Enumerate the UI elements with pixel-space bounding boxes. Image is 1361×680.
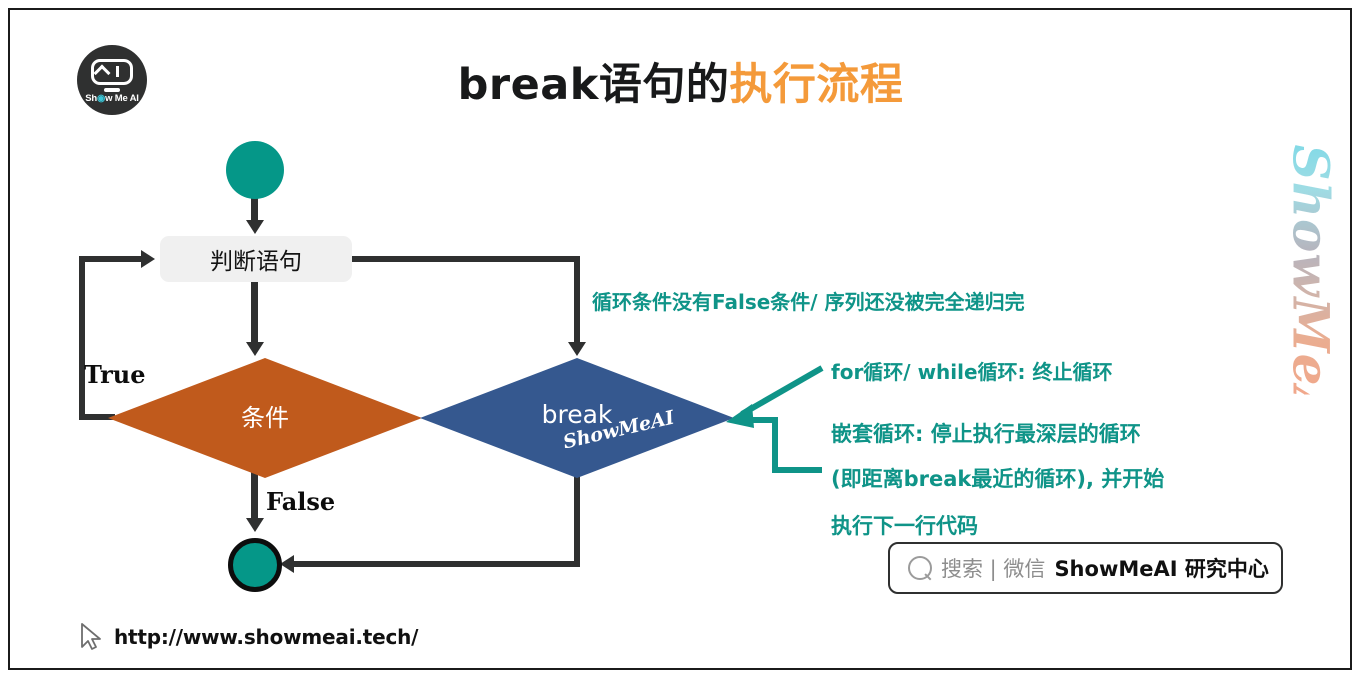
search-pill-placeholder: 搜索 | 微信 [941,553,1045,583]
arrowhead-statement-to-break [568,342,586,356]
page-title-orange: 执行流程 [729,60,903,110]
edge-true-vertical [79,256,85,420]
condition-diamond-label: 条件 [108,398,422,433]
diagram-canvas: Sh◉w Me AI break语句的执行流程 判断语句 条件 [0,0,1361,680]
annotation-nested-line-2: (即距离break最近的循环), 并开始 [831,463,1164,493]
edge-break-to-end-vertical [574,470,580,566]
arrowhead-true-into-statement [141,250,155,268]
edge-label-true: True [84,360,145,389]
break-diamond-label: break [420,400,734,429]
annotation-nested-line-1: 嵌套循环: 停止执行最深层的循环 [831,418,1141,448]
statement-box-label: 判断语句 [210,242,302,276]
cursor-icon [78,622,104,652]
flowchart-end-node [228,538,282,592]
page-title-black: break语句的 [458,60,730,110]
footer-url-text: http://www.showmeai.tech/ [114,625,418,649]
flowchart-condition-diamond: 条件 [108,358,422,478]
annotation-loop-condition: 循环条件没有False条件/ 序列还没被完全递归完 [592,286,1025,315]
edge-statement-to-break-vertical [574,256,580,344]
page-title: break语句的执行流程 [0,50,1361,112]
search-icon [908,556,932,580]
footer-url-block[interactable]: http://www.showmeai.tech/ [78,622,418,652]
annotation-nested-line-3: 执行下一行代码 [831,510,978,540]
edge-true-horizontal-top [79,256,143,262]
search-pill-brand: ShowMeAI 研究中心 [1054,553,1268,583]
arrowhead-false-to-end [246,518,264,532]
arrowhead-statement-to-condition [246,342,264,356]
edge-start-to-statement [251,196,258,222]
edge-break-to-end-horizontal [292,561,580,567]
annotation-for-while: for循环/ while循环: 终止循环 [831,356,1113,385]
arrowhead-break-to-end [280,555,294,573]
flowchart-statement-box: 判断语句 [160,236,352,282]
flowchart-break-diamond: break [420,358,734,478]
flowchart-start-node [226,141,284,199]
edge-label-false: False [266,487,335,516]
wechat-search-pill[interactable]: 搜索 | 微信 ShowMeAI 研究中心 [888,542,1283,594]
arrowhead-start-to-statement [246,220,264,234]
edge-statement-to-break-horizontal [352,256,580,262]
vertical-watermark: ShowMeAI [1282,145,1341,395]
edge-statement-to-condition [251,282,258,344]
